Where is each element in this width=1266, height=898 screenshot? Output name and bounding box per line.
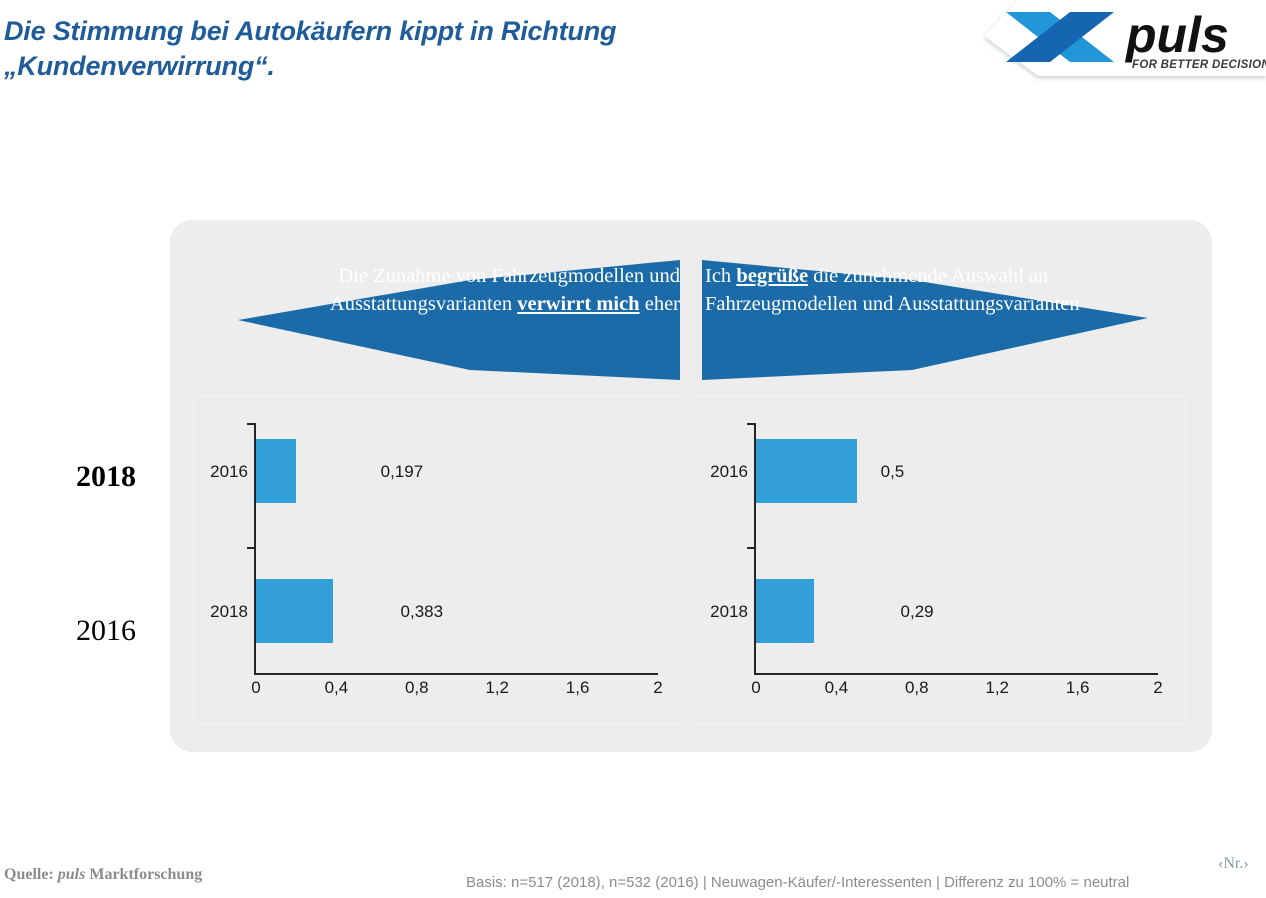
- plot-area-1: 2016 2018 0,5 0,29 00,40,81,21,62: [694, 397, 1185, 724]
- bar-0-0: [256, 439, 296, 503]
- bar-0-1: [256, 579, 333, 643]
- x-tick-labels-1: 00,40,81,21,62: [754, 678, 1158, 702]
- value-label-0-0: 0,197: [381, 462, 424, 482]
- banner-left-text-post: eher: [640, 293, 680, 315]
- banner-left-text: Die Zunahme von Fahrzeugmodellen und Aus…: [210, 262, 680, 318]
- x-tick-1-1: 0,4: [825, 678, 849, 698]
- y-tick-top-1: [747, 423, 755, 425]
- statement-banners: Die Zunahme von Fahrzeugmodellen und Aus…: [170, 220, 1212, 390]
- logo-wordmark: puls: [1124, 7, 1229, 63]
- x-tick-1-5: 2: [1153, 678, 1162, 698]
- category-label-0-1: 2018: [194, 602, 248, 622]
- title-line-1: Die Stimmung bei Autokäufern kippt in Ri…: [4, 16, 616, 46]
- value-label-1-1: 0,29: [901, 602, 934, 622]
- chart-panel-begruesse: 2016 2018 0,5 0,29 00,40,81,21,62: [693, 396, 1186, 725]
- title-line-2: „Kundenverwirrung“.: [4, 49, 824, 84]
- banner-right-text-post: die zunehmende Auswahl an Fahrzeugmodell…: [705, 265, 1080, 315]
- category-label-0-0: 2016: [194, 462, 248, 482]
- y-tick-mid-1: [747, 547, 755, 549]
- side-label-2018: 2018: [0, 460, 136, 494]
- logo-tagline: FOR BETTER DECISIONS: [1132, 59, 1266, 71]
- value-label-0-1: 0,383: [401, 602, 444, 622]
- x-tick-1-3: 1,2: [985, 678, 1009, 698]
- y-tick-mid-0: [247, 547, 255, 549]
- brand-logo: puls FOR BETTER DECISIONS: [966, 0, 1266, 86]
- x-tick-0-1: 0,4: [325, 678, 349, 698]
- content-panel: Die Zunahme von Fahrzeugmodellen und Aus…: [170, 220, 1212, 752]
- banner-right-shape: [702, 260, 1148, 380]
- banner-left-shape: [238, 260, 680, 380]
- footer-source: Quelle: puls Marktforschung: [4, 866, 202, 884]
- footer-basis-note: Basis: n=517 (2018), n=532 (2016) | Neuw…: [466, 874, 1129, 891]
- charts-row: 2016 2018 0,197 0,383 00,40,81,21,62 201…: [193, 396, 1189, 725]
- banner-right-text-pre: Ich: [705, 265, 736, 287]
- x-tick-0-0: 0: [251, 678, 260, 698]
- banner-right-text-emphasis: begrüße: [736, 265, 808, 287]
- x-tick-0-5: 2: [653, 678, 662, 698]
- footer-page-number: ‹Nr.›: [1218, 855, 1249, 873]
- y-tick-top-0: [247, 423, 255, 425]
- footer-source-prefix: Quelle:: [4, 866, 58, 883]
- banner-left-text-emphasis: verwirrt mich: [517, 293, 639, 315]
- x-tick-0-2: 0,8: [405, 678, 429, 698]
- x-tick-0-4: 1,6: [566, 678, 590, 698]
- bar-1-0: [756, 439, 857, 503]
- x-tick-0-3: 1,2: [485, 678, 509, 698]
- banner-left-text-pre: Die Zunahme von Fahrzeugmodellen und Aus…: [330, 265, 680, 315]
- x-axis-line-1: [754, 673, 1158, 675]
- x-axis-line-0: [254, 673, 658, 675]
- x-tick-1-2: 0,8: [905, 678, 929, 698]
- banner-right-text: Ich begrüße die zunehmende Auswahl an Fa…: [705, 262, 1145, 318]
- page-title: Die Stimmung bei Autokäufern kippt in Ri…: [4, 14, 824, 84]
- side-label-2016: 2016: [0, 614, 136, 648]
- category-label-1-0: 2016: [694, 462, 748, 482]
- x-tick-1-4: 1,6: [1066, 678, 1090, 698]
- footer-source-brand: puls: [58, 866, 86, 883]
- value-label-1-0: 0,5: [881, 462, 905, 482]
- footer-source-suffix: Marktforschung: [85, 866, 202, 883]
- bar-1-1: [756, 579, 814, 643]
- x-tick-1-0: 0: [751, 678, 760, 698]
- category-label-1-1: 2018: [694, 602, 748, 622]
- x-tick-labels-0: 00,40,81,21,62: [254, 678, 658, 702]
- plot-area-0: 2016 2018 0,197 0,383 00,40,81,21,62: [194, 397, 685, 724]
- chart-panel-verwirrt: 2016 2018 0,197 0,383 00,40,81,21,62: [193, 396, 686, 725]
